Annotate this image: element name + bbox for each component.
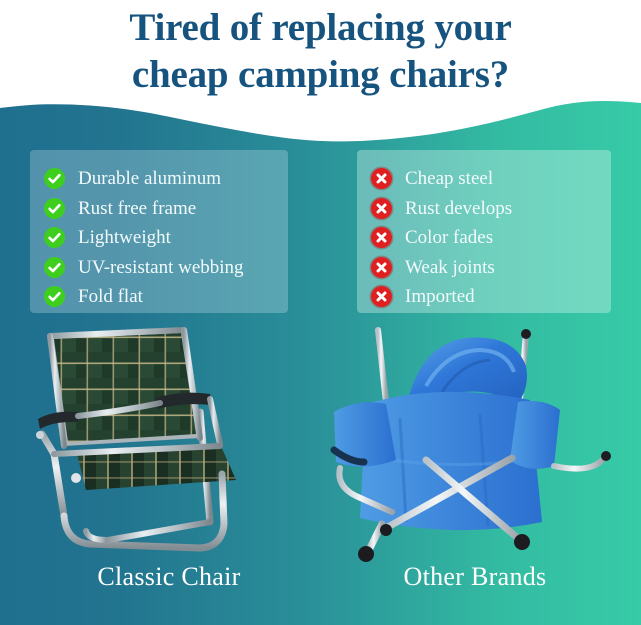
classic-chair-image: [24, 326, 314, 562]
list-item: Color fades: [371, 223, 601, 252]
caption-other-brands: Other Brands: [330, 562, 620, 592]
feature-label: Rust free frame: [78, 198, 196, 219]
list-item: Weak joints: [371, 253, 601, 282]
list-item: Lightweight: [44, 223, 278, 252]
headline-line-1: Tired of replacing your: [129, 6, 511, 49]
check-icon: [44, 227, 65, 248]
x-icon: [371, 227, 392, 248]
cons-panel: Cheap steel Rust develops Color fades We…: [357, 150, 611, 313]
product-right: [330, 326, 620, 562]
list-item: Imported: [371, 282, 601, 311]
list-item: Rust free frame: [44, 194, 278, 223]
list-item: UV-resistant webbing: [44, 253, 278, 282]
comparison-infographic: Tired of replacing your cheap camping ch…: [0, 0, 641, 625]
pros-panel: Durable aluminum Rust free frame Lightwe…: [30, 150, 288, 313]
caption-classic-chair: Classic Chair: [24, 562, 314, 592]
check-icon: [44, 286, 65, 307]
feature-label: Rust develops: [405, 198, 512, 219]
check-icon: [44, 257, 65, 278]
list-item: Cheap steel: [371, 164, 601, 193]
list-item: Durable aluminum: [44, 164, 278, 193]
x-icon: [371, 168, 392, 189]
page-title: Tired of replacing your cheap camping ch…: [0, 4, 641, 98]
product-left: [24, 326, 314, 562]
feature-label: Weak joints: [405, 257, 495, 278]
headline-line-2: cheap camping chairs?: [0, 51, 641, 98]
feature-label: Imported: [405, 286, 475, 307]
x-icon: [371, 257, 392, 278]
x-icon: [371, 198, 392, 219]
feature-label: Color fades: [405, 227, 493, 248]
feature-label: Fold flat: [78, 286, 143, 307]
other-brands-chair-image: [330, 326, 620, 562]
feature-label: Cheap steel: [405, 168, 493, 189]
feature-label: UV-resistant webbing: [78, 257, 244, 278]
list-item: Rust develops: [371, 194, 601, 223]
feature-label: Lightweight: [78, 227, 171, 248]
check-icon: [44, 168, 65, 189]
x-icon: [371, 286, 392, 307]
check-icon: [44, 198, 65, 219]
list-item: Fold flat: [44, 282, 278, 311]
feature-label: Durable aluminum: [78, 168, 221, 189]
